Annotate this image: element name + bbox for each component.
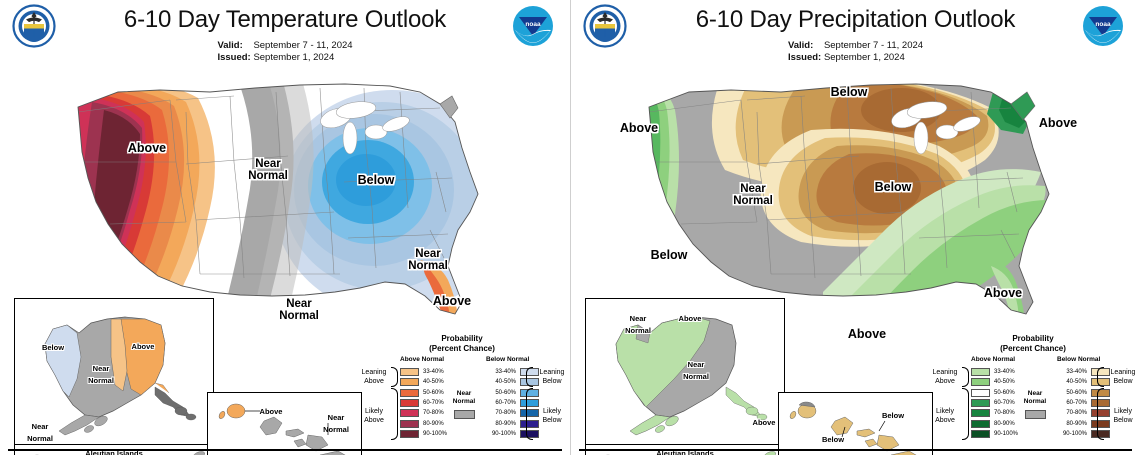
hawaii-inset: Above NearNormal NearNormal bbox=[207, 392, 362, 455]
legend-swatch-row: 60-70% bbox=[971, 398, 1018, 408]
brace-leaning-above bbox=[962, 367, 969, 387]
legend-swatch bbox=[971, 409, 990, 417]
brace-likely-above bbox=[962, 388, 969, 440]
legend-swatch bbox=[971, 430, 990, 438]
legend-above-swatches: 33-40%40-50%50-60%60-70%70-80%80-90%90-1… bbox=[971, 367, 1018, 439]
legend-above-header: Above Normal bbox=[400, 356, 444, 363]
precipitation-panel: 6-10 Day Precipitation Outlook Valid:Sep… bbox=[570, 0, 1140, 455]
panel-divider bbox=[8, 449, 562, 451]
valid-label: Valid: bbox=[217, 40, 253, 52]
legend-leaning-above-label: LeaningAbove bbox=[927, 369, 963, 386]
legend-swatch-row: 40-50% bbox=[400, 377, 447, 387]
valid-value: September 7 - 11, 2024 bbox=[253, 40, 352, 51]
svg-text:noaa: noaa bbox=[1095, 21, 1111, 28]
legend-likely-above-label: LikelyAbove bbox=[356, 408, 392, 425]
legend-swatch-label: 50-60% bbox=[994, 390, 1015, 396]
legend-near-normal-swatch bbox=[1025, 410, 1046, 419]
legend-swatch-row: 90-100% bbox=[400, 429, 447, 439]
hawaii-inset: Below Below Below bbox=[778, 392, 933, 455]
legend-swatch bbox=[400, 378, 419, 386]
legend-above-swatches: 33-40%40-50%50-60%60-70%70-80%80-90%90-1… bbox=[400, 367, 447, 439]
legend-swatch-label: 40-50% bbox=[1057, 379, 1087, 385]
legend-swatch-label: 60-70% bbox=[486, 400, 516, 406]
legend-swatch-row: 50-60% bbox=[400, 388, 447, 398]
legend-swatch bbox=[971, 399, 990, 407]
legend-swatch-label: 60-70% bbox=[1057, 400, 1087, 406]
legend-swatch-label: 70-80% bbox=[486, 410, 516, 416]
legend-swatch-row: 80-90% bbox=[971, 418, 1018, 428]
noaa-logo: noaa bbox=[510, 4, 556, 48]
legend-swatch-label: 80-90% bbox=[994, 421, 1015, 427]
legend-title-line2: (Percent Chance) bbox=[358, 344, 566, 354]
legend-swatch-label: 90-100% bbox=[994, 431, 1018, 437]
noaa-logo: noaa bbox=[1080, 4, 1126, 48]
alaska-inset: NearNormal Above NearNormal Above bbox=[585, 298, 785, 453]
legend-swatch-label: 50-60% bbox=[1057, 390, 1087, 396]
alaska-inset: Below NearNormal Above NearNormal bbox=[14, 298, 214, 453]
legend-title-line2: (Percent Chance) bbox=[929, 344, 1137, 354]
legend-swatch-label: 33-40% bbox=[486, 369, 516, 375]
brace-leaning-above bbox=[391, 367, 398, 387]
legend-swatch bbox=[971, 420, 990, 428]
legend-swatch bbox=[400, 368, 419, 376]
legend-swatch-label: 40-50% bbox=[423, 379, 444, 385]
legend-title-line1: Probability bbox=[358, 334, 566, 344]
outlook-page: 6-10 Day Temperature Outlook Valid:Septe… bbox=[0, 0, 1141, 455]
temperature-map: Above NearNormal Below NearNormal Above … bbox=[0, 52, 570, 352]
legend-near-normal-label: NearNormal bbox=[1024, 390, 1046, 405]
legend-likely-below-label: LikelyBelow bbox=[1105, 408, 1141, 425]
legend-near-normal: NearNormal bbox=[1015, 390, 1055, 419]
precipitation-map: Above Below NearNormal Below Below Above… bbox=[571, 52, 1141, 352]
legend-above-header: Above Normal bbox=[971, 356, 1015, 363]
legend-swatch-row: 80-90% bbox=[400, 418, 447, 428]
legend-swatch-label: 50-60% bbox=[486, 390, 516, 396]
legend-swatch-row: 40-50% bbox=[971, 377, 1018, 387]
legend-swatch-label: 33-40% bbox=[1057, 369, 1087, 375]
legend-likely-above-label: LikelyAbove bbox=[927, 408, 963, 425]
valid-value: September 7 - 11, 2024 bbox=[824, 40, 923, 51]
legend-swatch-label: 40-50% bbox=[994, 379, 1015, 385]
legend-swatch-label: 33-40% bbox=[423, 369, 444, 375]
temperature-panel: 6-10 Day Temperature Outlook Valid:Septe… bbox=[0, 0, 570, 455]
legend-swatch-label: 33-40% bbox=[994, 369, 1015, 375]
svg-text:noaa: noaa bbox=[525, 21, 541, 28]
legend-swatch bbox=[400, 430, 419, 438]
precipitation-legend: Probability (Percent Chance) Above Norma… bbox=[929, 334, 1137, 452]
legend-swatch bbox=[971, 389, 990, 397]
legend-swatch-label: 60-70% bbox=[994, 400, 1015, 406]
legend-swatch bbox=[971, 368, 990, 376]
legend-title-line1: Probability bbox=[929, 334, 1137, 344]
page-title: 6-10 Day Temperature Outlook bbox=[0, 6, 570, 34]
panel-divider bbox=[579, 449, 1132, 451]
legend-swatch-label: 80-90% bbox=[1057, 421, 1087, 427]
legend-swatch-label: 50-60% bbox=[423, 390, 444, 396]
legend-swatch-label: 90-100% bbox=[486, 431, 516, 437]
legend-swatch-label: 90-100% bbox=[423, 431, 447, 437]
valid-label: Valid: bbox=[788, 40, 824, 52]
legend-swatch-row: 60-70% bbox=[400, 398, 447, 408]
legend-swatch-row: 90-100% bbox=[971, 429, 1018, 439]
legend-near-normal: NearNormal bbox=[444, 390, 484, 419]
legend-swatch-label: 80-90% bbox=[486, 421, 516, 427]
legend-swatch-label: 70-80% bbox=[994, 410, 1015, 416]
legend-swatch-row: 70-80% bbox=[971, 408, 1018, 418]
legend-swatch bbox=[400, 389, 419, 397]
page-title: 6-10 Day Precipitation Outlook bbox=[571, 6, 1140, 34]
legend-swatch-label: 80-90% bbox=[423, 421, 444, 427]
brace-likely-above bbox=[391, 388, 398, 440]
brace-leaning-below bbox=[1097, 367, 1104, 387]
legend-swatch-row: 70-80% bbox=[400, 408, 447, 418]
legend-swatch-label: 90-100% bbox=[1057, 431, 1087, 437]
legend-swatch bbox=[400, 409, 419, 417]
legend-swatch-label: 70-80% bbox=[423, 410, 444, 416]
legend-swatch-row: 33-40% bbox=[971, 367, 1018, 377]
legend-likely-below-label: LikelyBelow bbox=[534, 408, 570, 425]
legend-swatch-row: 33-40% bbox=[400, 367, 447, 377]
legend-swatch-label: 70-80% bbox=[1057, 410, 1087, 416]
brace-likely-below bbox=[1097, 388, 1104, 440]
legend-swatch bbox=[400, 420, 419, 428]
brace-leaning-below bbox=[526, 367, 533, 387]
legend-swatch bbox=[971, 378, 990, 386]
legend-leaning-below-label: LeaningBelow bbox=[534, 369, 570, 386]
legend-below-header: Below Normal bbox=[1057, 356, 1100, 363]
legend-swatch-row: 50-60% bbox=[971, 388, 1018, 398]
legend-below-header: Below Normal bbox=[486, 356, 529, 363]
brace-likely-below bbox=[526, 388, 533, 440]
legend-near-normal-swatch bbox=[454, 410, 475, 419]
legend-swatch-label: 40-50% bbox=[486, 379, 516, 385]
legend-leaning-above-label: LeaningAbove bbox=[356, 369, 392, 386]
legend-swatch bbox=[400, 399, 419, 407]
temperature-legend: Probability (Percent Chance) Above Norma… bbox=[358, 334, 566, 452]
legend-leaning-below-label: LeaningBelow bbox=[1105, 369, 1141, 386]
legend-near-normal-label: NearNormal bbox=[453, 390, 475, 405]
legend-swatch-label: 60-70% bbox=[423, 400, 444, 406]
